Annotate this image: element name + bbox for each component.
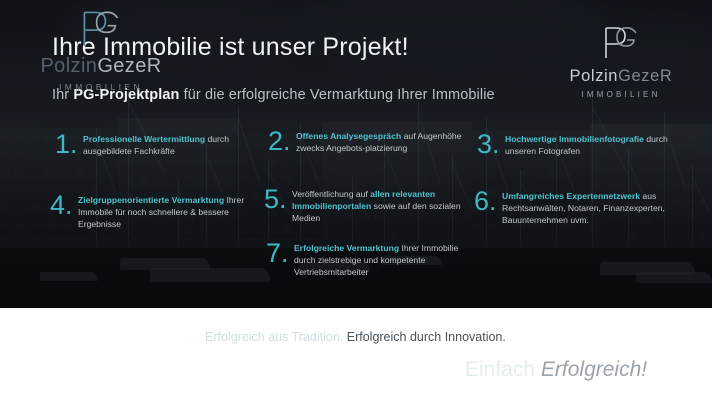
step-text: Hochwertige Immobilienfotografie durch u… bbox=[505, 131, 683, 158]
footer-section bbox=[0, 308, 712, 400]
step-text: Erfolgreiche Vermarktung Ihrer Immobilie… bbox=[294, 240, 472, 279]
subtitle-suffix: für die erfolgreiche Vermarktung Ihrer I… bbox=[180, 87, 495, 103]
step-number: 3. bbox=[477, 131, 505, 158]
step-item-5: 5. Veröffentlichung auf allen relevanten… bbox=[264, 186, 470, 225]
step-number: 2. bbox=[268, 128, 296, 155]
step-number: 1. bbox=[55, 131, 83, 158]
step-highlight: Erfolgreiche Vermarktung bbox=[294, 243, 399, 253]
step-item-7: 7. Erfolgreiche Vermarktung Ihrer Immobi… bbox=[266, 240, 472, 279]
footer-slogan: Einfach Erfolgreich! bbox=[465, 358, 647, 382]
step-item-2: 2. Offenes Analysegespräch auf Augenhöhe… bbox=[268, 128, 474, 155]
step-text: Veröffentlichung auf allen relevanten Im… bbox=[292, 186, 470, 225]
marketing-slide: Ihre Immobilie ist unser Projekt! Ihr PG… bbox=[0, 0, 712, 400]
brand-tagline: IMMOBILIEN bbox=[18, 82, 184, 92]
brand-name-part2: GezeR bbox=[618, 67, 672, 85]
slogan-erfolgreich: Erfolgreich! bbox=[541, 358, 647, 381]
step-highlight: Offenes Analysegespräch bbox=[296, 131, 401, 141]
step-item-1: 1. Professionelle Wertermittlung durch a… bbox=[55, 131, 261, 158]
step-number: 5. bbox=[264, 186, 292, 213]
pg-monogram-icon bbox=[75, 8, 127, 50]
step-item-4: 4. Zielgruppenorientierte Vermarktung Ih… bbox=[50, 192, 256, 231]
tagline-tradition: Erfolgreich aus Tradition. bbox=[205, 330, 343, 344]
step-text: Zielgruppenorientierte Vermarktung Ihrer… bbox=[78, 192, 256, 231]
brand-logo-header: PolzinGezeR IMMOBILIEN bbox=[546, 24, 696, 99]
brand-name-part2: GezeR bbox=[97, 55, 161, 77]
slogan-einfach: Einfach bbox=[465, 358, 541, 381]
step-highlight: Zielgruppenorientierte Vermarktung bbox=[78, 195, 224, 205]
step-highlight: Hochwertige Immobilienfotografie bbox=[505, 134, 644, 144]
step-highlight: allen relevanten Immobilienportalen bbox=[292, 189, 435, 211]
pg-monogram-icon bbox=[598, 24, 644, 62]
step-highlight: Umfangreiches Expertennetzwerk bbox=[502, 191, 640, 201]
step-number: 4. bbox=[50, 192, 78, 219]
step-text: Offenes Analysegespräch auf Augenhöhe zw… bbox=[296, 128, 474, 155]
footer-tagline: Erfolgreich aus Tradition. Erfolgreich d… bbox=[205, 330, 506, 344]
brand-wordmark: PolzinGezeR bbox=[546, 68, 696, 85]
step-highlight: Professionelle Wertermittlung bbox=[83, 134, 205, 144]
step-text: Professionelle Wertermittlung durch ausg… bbox=[83, 131, 261, 158]
brand-name-part1: Polzin bbox=[570, 67, 619, 85]
brand-name-part1: Polzin bbox=[40, 55, 97, 77]
brand-tagline: IMMOBILIEN bbox=[546, 90, 696, 99]
step-number: 6. bbox=[474, 188, 502, 215]
step-text: Umfangreiches Expertennetzwerk aus Recht… bbox=[502, 188, 680, 227]
tagline-innovation: Erfolgreich durch Innovation. bbox=[343, 330, 506, 344]
step-item-3: 3. Hochwertige Immobilienfotografie durc… bbox=[477, 131, 683, 158]
step-number: 7. bbox=[266, 240, 294, 267]
brand-wordmark: PolzinGezeR bbox=[18, 56, 184, 76]
step-item-6: 6. Umfangreiches Expertennetzwerk aus Re… bbox=[474, 188, 680, 227]
brand-logo-footer: PolzinGezeR IMMOBILIEN bbox=[18, 8, 184, 92]
